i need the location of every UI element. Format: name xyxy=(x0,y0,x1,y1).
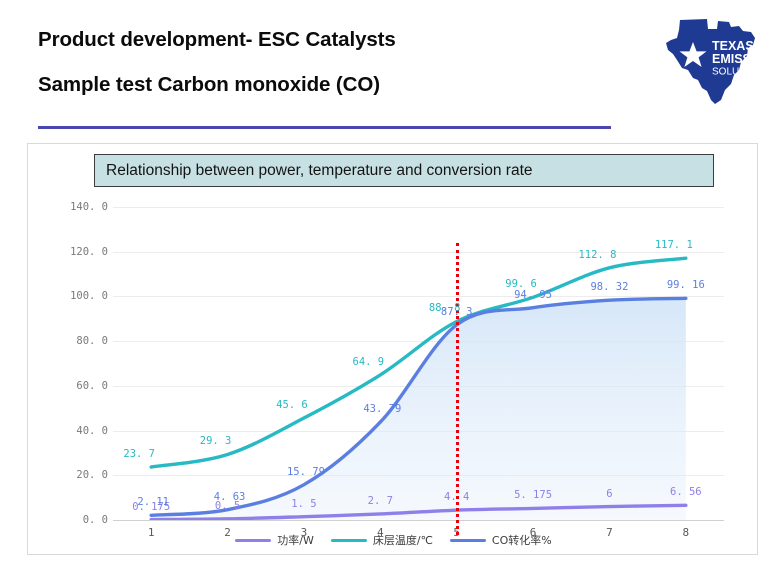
texas-emission-solution-logo: TEXAS EMISSION SOLUTION xyxy=(655,12,767,114)
y-axis-tick-label: 120. 0 xyxy=(70,246,108,258)
legend-label: CO转化率% xyxy=(492,532,552,548)
title-line-2: Sample test Carbon monoxide (CO) xyxy=(38,75,598,96)
legend-swatch xyxy=(235,539,271,542)
conversion-area-fill xyxy=(151,298,686,520)
chart-legend: 功率/W床层温度/℃CO转化率% xyxy=(28,532,759,548)
page-title: Product development- ESC Catalysts Sampl… xyxy=(38,30,598,119)
y-axis-tick-label: 140. 0 xyxy=(70,201,108,213)
chart-card: Relationship between power, temperature … xyxy=(27,143,758,555)
x-axis-line xyxy=(113,520,724,521)
legend-label: 床层温度/℃ xyxy=(373,532,433,548)
legend-label: 功率/W xyxy=(277,532,314,548)
y-axis-tick-label: 20. 0 xyxy=(76,469,108,481)
legend-swatch xyxy=(450,539,486,542)
slide-header: Product development- ESC Catalysts Sampl… xyxy=(0,0,784,135)
threshold-marker-line xyxy=(456,243,459,542)
legend-item[interactable]: CO转化率% xyxy=(450,532,552,548)
y-axis-tick-label: 60. 0 xyxy=(76,380,108,392)
y-axis-tick-label: 80. 0 xyxy=(76,335,108,347)
logo-text-line2: EMISSION xyxy=(712,52,767,66)
legend-swatch xyxy=(331,539,367,542)
title-line-1: Product development- ESC Catalysts xyxy=(38,30,598,51)
legend-item[interactable]: 床层温度/℃ xyxy=(331,532,433,548)
legend-item[interactable]: 功率/W xyxy=(235,532,314,548)
y-axis-tick-label: 40. 0 xyxy=(76,425,108,437)
logo-text-line1: TEXAS xyxy=(712,39,754,53)
y-axis-tick-label: 100. 0 xyxy=(70,290,108,302)
plot-wrap: 0. 020. 040. 060. 080. 0100. 0120. 0140.… xyxy=(28,144,759,556)
logo-text-line3: SOLUTION xyxy=(712,67,763,78)
title-divider xyxy=(38,126,611,129)
chart-plot xyxy=(113,207,724,520)
y-axis-tick-label: 0. 0 xyxy=(83,514,108,526)
